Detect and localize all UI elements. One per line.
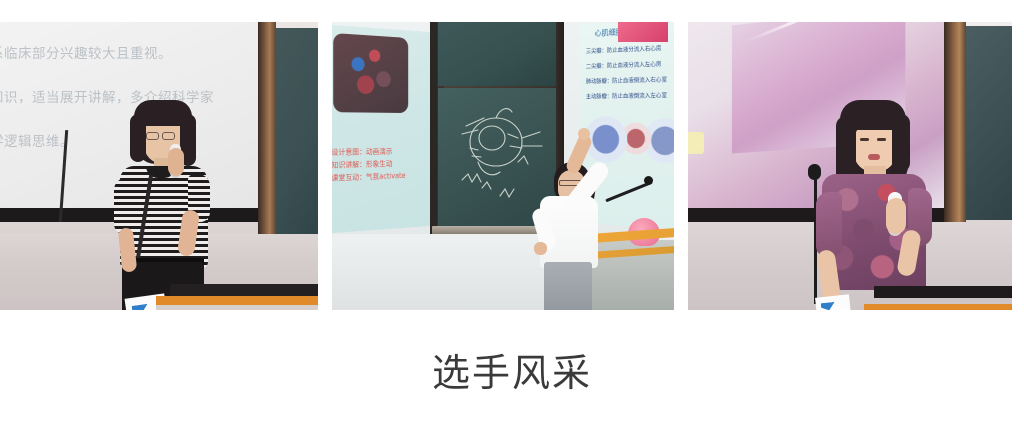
hand-holding-microphone — [168, 148, 184, 176]
desk-top-dark — [874, 286, 1012, 298]
contestant-figure — [520, 142, 624, 310]
slide-page: 系临床部分兴趣较大且重视。 知识，适当展开讲解，多介绍科学家 学逻辑思维。 — [0, 0, 1024, 422]
photo-gallery-strip: 系临床部分兴趣较大且重视。 知识，适当展开讲解，多介绍科学家 学逻辑思维。 — [0, 22, 1024, 310]
right-slide-line-2: 二尖瓣：防止血液分流入左心房 — [586, 59, 662, 70]
anatomy-illustration — [333, 33, 408, 113]
microphone-head — [644, 176, 653, 185]
slide-header-banner — [618, 22, 668, 42]
paper-logo-icon — [821, 302, 836, 310]
closed-hand — [534, 242, 547, 255]
right-slide-line-3: 肺动脉瓣：防止血液倒流入右心室 — [586, 75, 667, 86]
sleeve-left — [114, 178, 138, 234]
photo-3-scene — [688, 22, 1012, 310]
lips — [868, 154, 880, 160]
hand-with-chalk — [578, 128, 590, 140]
photo-2-scene: 设计意图：动画演示 知识讲解：形象生动 课堂互动：气氛activate 心肌细胞… — [332, 22, 674, 310]
hand-holding-microphone — [886, 198, 906, 234]
right-slide-line-4: 主动脉瓣：防止血液倒流入左心室 — [586, 90, 667, 100]
chalkboard — [276, 28, 318, 234]
eye-right — [877, 138, 886, 141]
sleeve-left — [816, 192, 842, 258]
gallery-photo-2[interactable]: 设计意图：动画演示 知识讲解：形象生动 课堂互动：气氛activate 心肌细胞… — [332, 22, 674, 310]
chalkboard — [966, 26, 1012, 220]
chalkboard-frame — [258, 22, 276, 240]
glasses-left-lens — [146, 132, 159, 140]
gallery-photo-1[interactable]: 系临床部分兴趣较大且重视。 知识，适当展开讲解，多介绍科学家 学逻辑思维。 — [0, 22, 318, 310]
right-slide-line-1: 三尖瓣：防止血液分流入右心房 — [586, 43, 662, 55]
paper-note — [815, 294, 851, 310]
contestant-figure — [814, 100, 946, 310]
hair-left — [130, 114, 146, 162]
glasses-right-lens — [162, 132, 175, 140]
desk-wood-edge — [864, 304, 1012, 310]
chalkboard-upper-panel — [438, 22, 556, 86]
chalkboard-frame — [944, 22, 966, 228]
gallery-photo-3[interactable] — [688, 22, 1012, 310]
desk-body — [156, 305, 318, 310]
eye-left — [860, 138, 869, 141]
left-slide-text: 设计意图：动画演示 知识讲解：形象生动 课堂互动：气氛activate — [332, 145, 444, 185]
slide-line-1: 系临床部分兴趣较大且重视。 — [0, 32, 242, 76]
page-caption: 选手风采 — [0, 348, 1024, 400]
grey-trousers — [544, 262, 592, 310]
left-slide-line-3: 课堂互动：气氛activate — [332, 168, 444, 184]
photo-1-scene: 系临床部分兴趣较大且重视。 知识，适当展开讲解，多介绍科学家 学逻辑思维。 — [0, 22, 318, 310]
contestant-figure — [108, 100, 220, 310]
paper-logo-icon — [132, 304, 149, 310]
sticky-note — [688, 132, 704, 154]
hair-right — [892, 114, 910, 172]
